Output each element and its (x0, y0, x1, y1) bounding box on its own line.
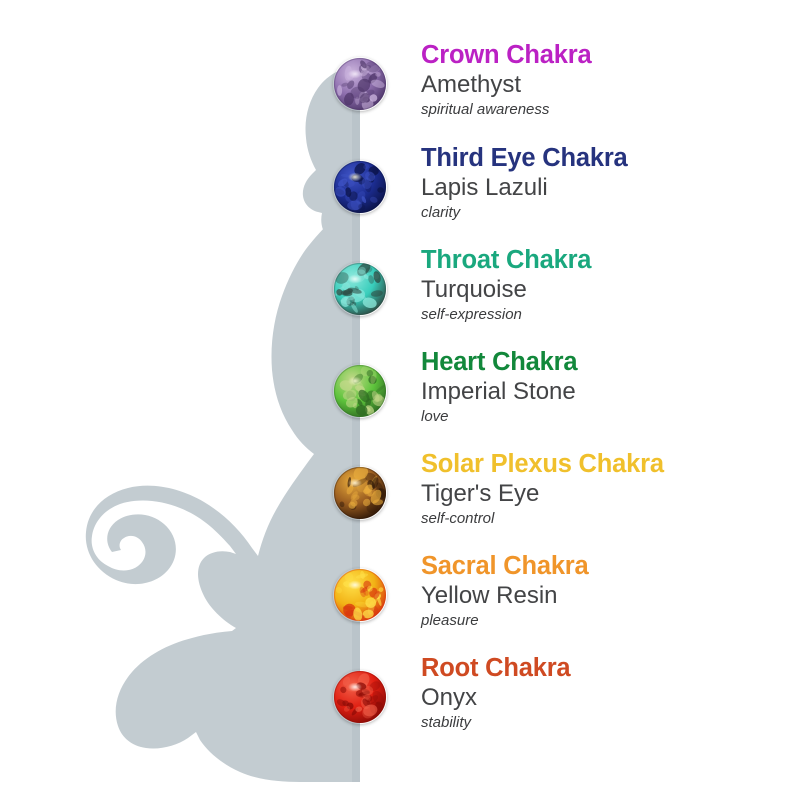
chakra-title: Crown Chakra (421, 41, 791, 70)
chakra-stone-name: Amethyst (421, 71, 791, 100)
chakra-text-block: Crown ChakraAmethystspiritual awareness (421, 41, 791, 119)
tigers-eye-bead-graphic (333, 466, 387, 520)
chakra-text-block: Throat ChakraTurquoiseself-expression (421, 246, 791, 324)
turquoise-bead-sphere[interactable] (333, 262, 387, 316)
chakra-title: Root Chakra (421, 654, 791, 683)
tigers-eye-bead-sphere[interactable] (333, 466, 387, 520)
onyx-bead[interactable] (333, 670, 387, 724)
amethyst-bead-graphic (333, 57, 387, 111)
chakra-stone-name: Yellow Resin (421, 582, 791, 611)
chakra-title: Third Eye Chakra (421, 144, 791, 173)
chakra-row: Root ChakraOnyxstability (0, 670, 800, 772)
lapis-lazuli-bead[interactable] (333, 160, 387, 214)
imperial-stone-bead[interactable] (333, 364, 387, 418)
onyx-bead-sphere[interactable] (333, 670, 387, 724)
chakra-keyword: spiritual awareness (421, 101, 791, 119)
chakra-title: Sacral Chakra (421, 552, 791, 581)
chakra-title: Throat Chakra (421, 246, 791, 275)
chakra-infographic: Crown ChakraAmethystspiritual awarenessT… (0, 0, 800, 800)
chakra-keyword: self-control (421, 510, 791, 528)
amethyst-bead[interactable] (333, 57, 387, 111)
yellow-resin-bead-sphere[interactable] (333, 568, 387, 622)
chakra-text-block: Root ChakraOnyxstability (421, 654, 791, 732)
chakra-text-block: Heart ChakraImperial Stonelove (421, 348, 791, 426)
chakra-title: Solar Plexus Chakra (421, 450, 791, 479)
lapis-lazuli-bead-graphic (333, 160, 387, 214)
chakra-stone-name: Turquoise (421, 276, 791, 305)
yellow-resin-bead[interactable] (333, 568, 387, 622)
chakra-text-block: Solar Plexus ChakraTiger's Eyeself-contr… (421, 450, 791, 528)
yellow-resin-bead-graphic (333, 568, 387, 622)
chakra-text-block: Third Eye ChakraLapis Lazuliclarity (421, 144, 791, 222)
lapis-lazuli-bead-sphere[interactable] (333, 160, 387, 214)
chakra-keyword: stability (421, 714, 791, 732)
turquoise-bead[interactable] (333, 262, 387, 316)
chakra-stone-name: Tiger's Eye (421, 480, 791, 509)
chakra-text-block: Sacral ChakraYellow Resinpleasure (421, 552, 791, 630)
imperial-stone-bead-graphic (333, 364, 387, 418)
onyx-bead-graphic (333, 670, 387, 724)
chakra-keyword: pleasure (421, 612, 791, 630)
chakra-keyword: love (421, 408, 791, 426)
amethyst-bead-sphere[interactable] (333, 57, 387, 111)
chakra-stone-name: Onyx (421, 684, 791, 713)
chakra-stone-name: Imperial Stone (421, 378, 791, 407)
imperial-stone-bead-sphere[interactable] (333, 364, 387, 418)
chakra-title: Heart Chakra (421, 348, 791, 377)
chakra-stone-name: Lapis Lazuli (421, 174, 791, 203)
chakra-list: Crown ChakraAmethystspiritual awarenessT… (0, 0, 800, 800)
chakra-keyword: clarity (421, 204, 791, 222)
tigers-eye-bead[interactable] (333, 466, 387, 520)
chakra-keyword: self-expression (421, 306, 791, 324)
turquoise-bead-graphic (333, 262, 387, 316)
